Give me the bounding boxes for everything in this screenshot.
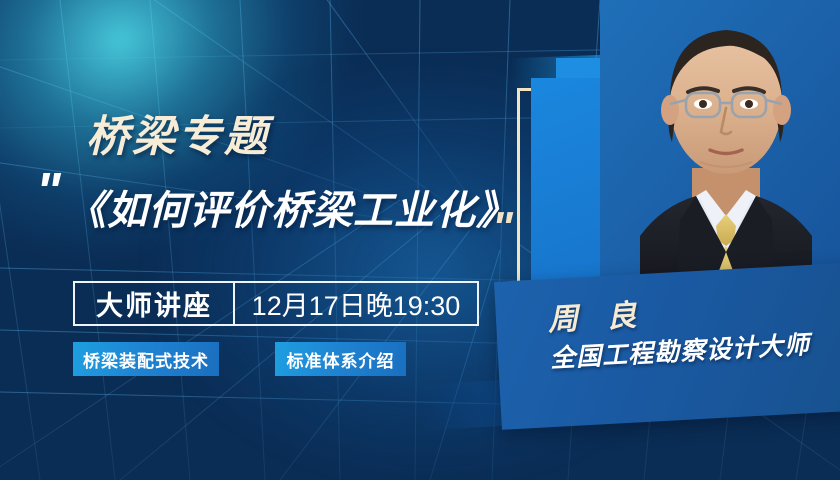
lecture-datetime-label: 12月17日晚19:30	[235, 283, 477, 324]
speaker-nameplate-content: 周 良 全国工程勘察设计大师	[494, 263, 840, 430]
page-title: 桥梁专题	[86, 102, 270, 164]
speaker-portrait	[600, 0, 840, 300]
quote-open-mark: "	[36, 166, 58, 218]
poster-canvas: 桥梁专题 " 《如何评价桥梁工业化》 " 大师讲座 12月17日晚19:30 桥…	[0, 0, 840, 480]
topic-tag-2[interactable]: 标准体系介绍	[275, 342, 406, 376]
lecture-info-box: 大师讲座 12月17日晚19:30	[73, 281, 479, 326]
page-subtitle: 《如何评价桥梁工业化》	[66, 178, 517, 236]
quote-close-mark: "	[492, 206, 510, 250]
speaker-photo-icon	[600, 0, 840, 300]
lecture-category-label: 大师讲座	[75, 283, 235, 324]
topic-tag-1[interactable]: 桥梁装配式技术	[73, 342, 219, 376]
